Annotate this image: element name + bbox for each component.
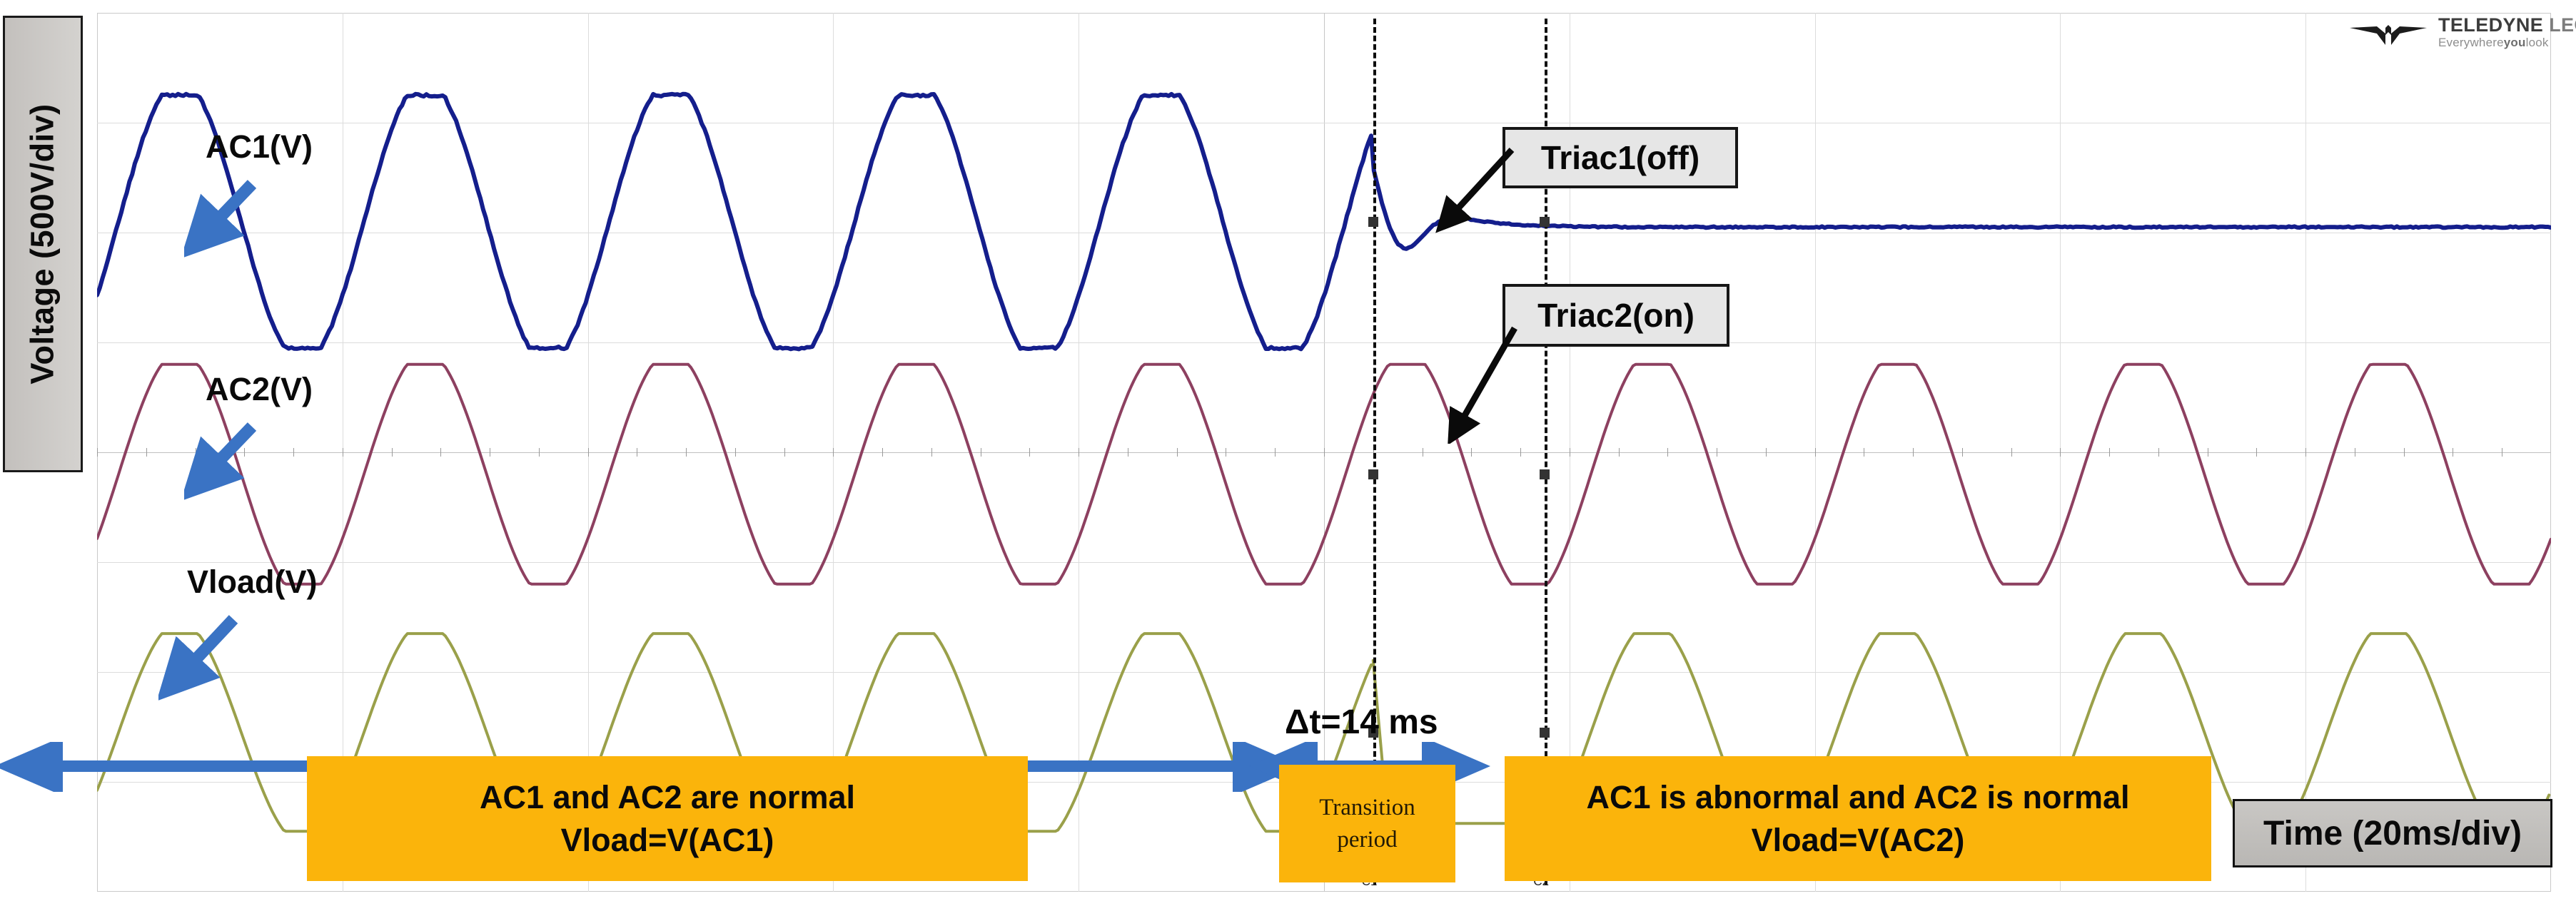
callout-leader-triac1-icon bbox=[1428, 143, 1520, 235]
banner-transition: Transition period bbox=[1279, 765, 1455, 882]
banner-abnormal: AC1 is abnormal and AC2 is normal Vload=… bbox=[1505, 756, 2211, 881]
banner-normal-line1: AC1 and AC2 are normal bbox=[480, 776, 855, 818]
cursor-handle bbox=[1540, 469, 1550, 479]
y-axis-label-text: Voltage (500V/div) bbox=[24, 103, 61, 384]
callout-triac2-label: Triac2(on) bbox=[1537, 296, 1694, 335]
cursor-handle bbox=[1540, 728, 1550, 738]
trace-label-ac2: AC2(V) bbox=[206, 371, 313, 408]
x-axis-label: Time (20ms/div) bbox=[2233, 799, 2552, 867]
banner-transition-line1: Transition bbox=[1319, 792, 1415, 824]
logo-tagline-a: Everywhere bbox=[2438, 36, 2504, 49]
callout-triac2: Triac2(on) bbox=[1502, 284, 1729, 347]
banner-abnormal-line2: Vload=V(AC2) bbox=[1752, 819, 1965, 861]
banner-normal-line2: Vload=V(AC1) bbox=[561, 819, 774, 861]
cursor-handle bbox=[1540, 217, 1550, 227]
logo-tagline-b: you bbox=[2504, 36, 2526, 49]
logo-brand: TELEDYNE bbox=[2438, 14, 2543, 36]
pointer-arrow-icon bbox=[184, 421, 277, 514]
banner-normal: AC1 and AC2 are normal Vload=V(AC1) bbox=[307, 756, 1028, 881]
callout-triac1-label: Triac1(off) bbox=[1541, 138, 1699, 177]
delta-t-label: Δt=14 ms bbox=[1285, 703, 1438, 742]
teledyne-lecroy-logo: TELEDYNE LECROY Everywhereyoulook bbox=[2348, 16, 2576, 49]
logo-brand2: LECROY bbox=[2549, 14, 2576, 36]
trace-label-vload: Vload(V) bbox=[187, 564, 318, 601]
callout-leader-triac2-icon bbox=[1435, 322, 1520, 444]
logo-tagline-c: look bbox=[2526, 36, 2549, 49]
banner-abnormal-line1: AC1 is abnormal and AC2 is normal bbox=[1586, 776, 2129, 818]
trace-label-ac1: AC1(V) bbox=[206, 128, 313, 166]
pointer-arrow-icon bbox=[158, 614, 258, 713]
cursor-handle bbox=[1368, 469, 1378, 479]
banner-transition-line2: period bbox=[1337, 824, 1397, 856]
x-axis-label-text: Time (20ms/div) bbox=[2263, 814, 2522, 853]
cursor-handle bbox=[1368, 217, 1378, 227]
teledyne-chevron-icon bbox=[2348, 18, 2428, 46]
pointer-arrow-icon bbox=[184, 178, 277, 271]
callout-triac1: Triac1(off) bbox=[1502, 127, 1738, 188]
y-axis-label: Voltage (500V/div) bbox=[3, 16, 83, 472]
